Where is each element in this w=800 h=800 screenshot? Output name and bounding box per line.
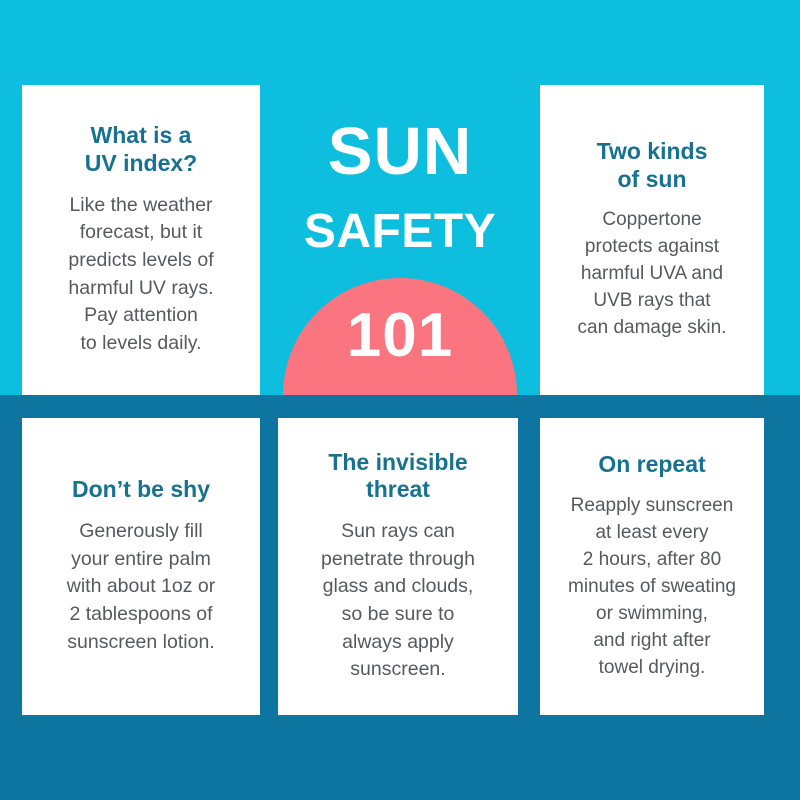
card-title-line: Two kinds xyxy=(597,138,708,164)
card-body-line: Sun rays can xyxy=(341,520,455,542)
card-what-is-a-uv-index: What is a UV index? Like the weather for… xyxy=(22,85,260,395)
card-body-line: can damage skin. xyxy=(578,317,727,338)
card-body-line: sunscreen. xyxy=(350,658,445,680)
card-title-line: of sun xyxy=(618,166,687,192)
card-body-line: so be sure to xyxy=(342,603,455,625)
card-title-line: Don’t be shy xyxy=(72,476,210,502)
card-title: What is a UV index? xyxy=(85,122,197,177)
card-body-line: to levels daily. xyxy=(80,332,201,354)
card-title: On repeat xyxy=(598,451,705,479)
card-title-line: The invisible xyxy=(328,449,467,475)
card-body-line: predicts levels of xyxy=(68,249,213,271)
card-body-line: towel drying. xyxy=(599,657,706,678)
card-body: Coppertone protects against harmful UVA … xyxy=(578,207,727,342)
card-two-kinds-of-sun: Two kinds of sun Coppertone protects aga… xyxy=(540,85,764,395)
card-body-line: forecast, but it xyxy=(80,221,202,243)
card-title: The invisible threat xyxy=(328,449,467,504)
card-body-line: glass and clouds, xyxy=(323,575,474,597)
card-body-line: at least every xyxy=(595,522,708,543)
infographic-poster: SUN SAFETY 101 What is a UV index? Like … xyxy=(0,0,800,800)
card-body: Generously fill your entire palm with ab… xyxy=(67,518,216,656)
card-body-line: Reapply sunscreen xyxy=(571,495,734,516)
card-body: Like the weather forecast, but it predic… xyxy=(68,192,213,358)
hero-title-block: SUN SAFETY 101 xyxy=(262,0,538,395)
card-title-line: On repeat xyxy=(598,451,705,477)
hero-text-group: SUN SAFETY 101 xyxy=(262,0,538,395)
card-body-line: Coppertone xyxy=(602,209,701,230)
card-body-line: Generously fill xyxy=(79,520,203,542)
card-dont-be-shy: Don’t be shy Generously fill your entire… xyxy=(22,418,260,715)
card-body-line: Pay attention xyxy=(84,304,198,326)
card-title-line: UV index? xyxy=(85,150,197,176)
card-body-line: harmful UVA and xyxy=(581,263,723,284)
card-title-line: What is a xyxy=(91,122,192,148)
hero-line-safety: SAFETY xyxy=(262,208,538,256)
hero-line-sun: SUN xyxy=(262,118,538,185)
card-body-line: minutes of sweating xyxy=(568,576,736,597)
card-body-line: 2 tablespoons of xyxy=(69,603,212,625)
hero-line-101: 101 xyxy=(262,305,538,367)
card-title: Don’t be shy xyxy=(72,476,210,504)
card-body-line: harmful UV rays. xyxy=(68,277,213,299)
card-body: Sun rays can penetrate through glass and… xyxy=(321,518,475,684)
card-body: Reapply sunscreen at least every 2 hours… xyxy=(568,493,736,682)
card-body-line: UVB rays that xyxy=(593,290,710,311)
card-body-line: always apply xyxy=(342,631,454,653)
card-body-line: your entire palm xyxy=(71,548,211,570)
card-body-line: 2 hours, after 80 xyxy=(583,549,721,570)
card-title: Two kinds of sun xyxy=(597,138,708,193)
card-body-line: penetrate through xyxy=(321,548,475,570)
card-on-repeat: On repeat Reapply sunscreen at least eve… xyxy=(540,418,764,715)
card-title-line: threat xyxy=(366,476,430,502)
card-body-line: sunscreen lotion. xyxy=(67,631,214,653)
card-body-line: and right after xyxy=(593,630,710,651)
card-body-line: protects against xyxy=(585,236,719,257)
card-body-line: with about 1oz or xyxy=(67,575,216,597)
card-body-line: or swimming, xyxy=(596,603,708,624)
card-the-invisible-threat: The invisible threat Sun rays can penetr… xyxy=(278,418,518,715)
card-body-line: Like the weather xyxy=(69,194,212,216)
